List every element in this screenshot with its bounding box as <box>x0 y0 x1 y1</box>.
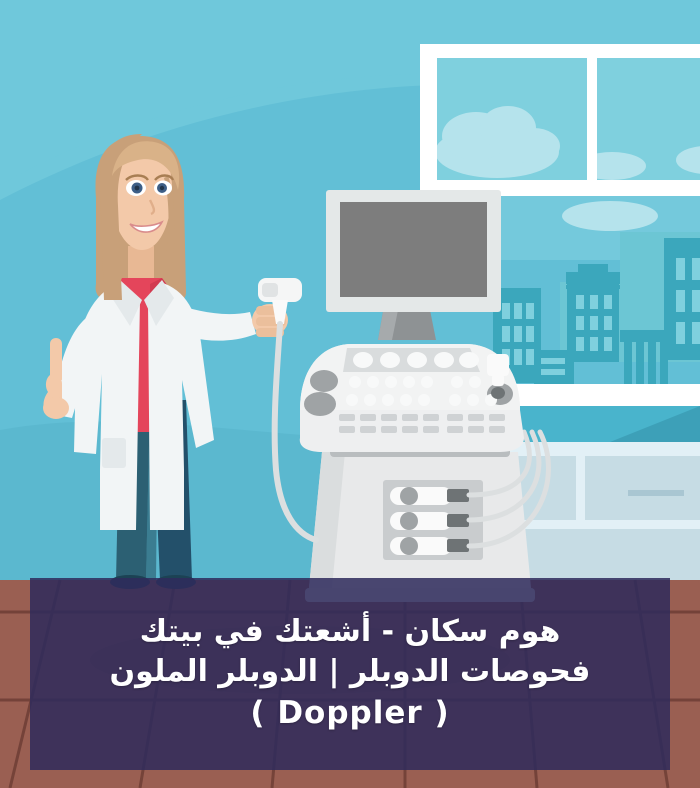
banner-image: هوم سكان - أشعتك في بيتك فحوصات الدوبلر … <box>0 0 700 788</box>
cabinet-handle <box>628 490 684 496</box>
cabinet-divider-v <box>576 456 585 520</box>
cloud-below-window <box>562 201 658 231</box>
caption-overlay: هوم سكان - أشعتك في بيتك فحوصات الدوبلر … <box>30 578 670 770</box>
monitor-screen <box>340 202 487 297</box>
panel-knob-lower <box>304 392 336 416</box>
caption-line-3: ( Doppler ) <box>250 694 449 734</box>
panel-knob-upper <box>310 370 338 392</box>
coat-pocket <box>102 438 126 468</box>
neck <box>128 246 154 280</box>
caption-line-2: فحوصات الدوبلر | الدوبلر الملون <box>110 653 591 691</box>
probe-holder-slots <box>390 487 469 555</box>
caption-line-1: هوم سكان - أشعتك في بيتك <box>140 613 561 651</box>
